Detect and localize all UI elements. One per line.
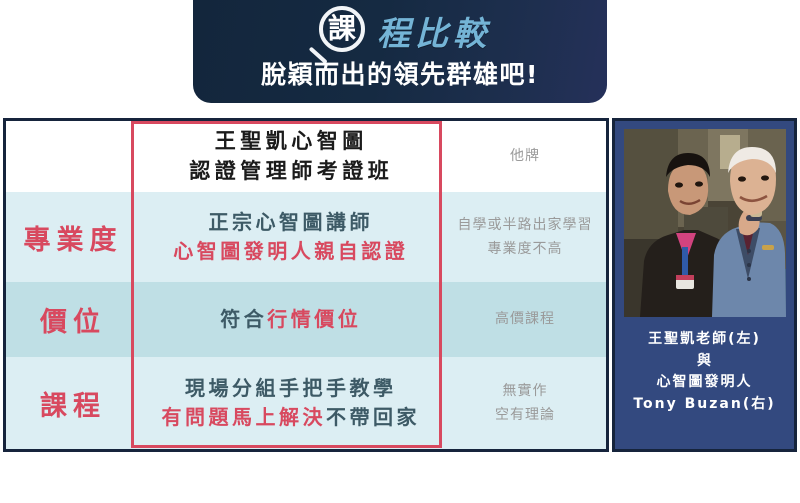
ours-text-segment: 行情價位: [267, 307, 361, 331]
table-row: 價位 符合行情價位 高價課程: [6, 282, 606, 357]
row-label-price: 價位: [6, 282, 134, 357]
ours-text-segment: 有問題馬上解決: [162, 405, 327, 429]
ours-text-segment: 正宗心智圖講師: [209, 210, 374, 234]
row-ours-expertise: 正宗心智圖講師心智圖發明人親自認證: [134, 192, 444, 282]
header-cell-ours: 王聖凱心智圖 認證管理師考證班: [134, 121, 444, 192]
caption-line-1: 王聖凱老師(左): [615, 329, 794, 351]
page-title: 程比較: [377, 17, 491, 50]
row-other-expertise: 自學或半路出家學習專業度不高: [444, 192, 606, 282]
row-other-course: 無實作空有理論: [444, 357, 606, 449]
magnifier-glyph-text: 課: [319, 6, 365, 52]
other-title: 他牌: [510, 144, 540, 169]
ours-text-line: 正宗心智圖講師: [205, 208, 373, 237]
header-cell-other: 他牌: [444, 121, 606, 192]
header-subtitle: 脫穎而出的領先群雄吧!: [193, 60, 607, 90]
ours-text-line: 現場分組手把手教學: [182, 374, 397, 403]
other-text-line: 高價課程: [495, 307, 555, 332]
ours-text-segment: 符合: [220, 307, 267, 331]
ours-text-segment: 現場分組手把手教學: [185, 376, 397, 400]
photo-caption: 王聖凱老師(左) 與 心智圖發明人 Tony Buzan(右): [615, 329, 794, 416]
caption-line-2: 與: [615, 351, 794, 373]
ours-title-line1: 王聖凱心智圖: [210, 127, 368, 157]
other-text-line: 自學或半路出家學習: [458, 213, 593, 238]
header-title-row: 課 程比較: [193, 2, 607, 64]
photo-image: [624, 129, 786, 317]
ours-text-line: 符合行情價位: [217, 305, 362, 334]
comparison-table: 王聖凱心智圖 認證管理師考證班 他牌 專業度 正宗心智圖講師心智圖發明人親自認證…: [3, 118, 609, 452]
other-text-line: 空有理論: [495, 403, 555, 428]
row-label-course: 課程: [6, 357, 134, 449]
ours-text-segment: 不帶回家: [326, 405, 420, 429]
other-text-line: 無實作: [503, 379, 548, 404]
photo-panel: 王聖凱老師(左) 與 心智圖發明人 Tony Buzan(右): [612, 118, 797, 452]
header-banner: 課 程比較 脫穎而出的領先群雄吧!: [193, 0, 607, 103]
other-text-line: 專業度不高: [488, 237, 563, 262]
header-cell-label: [6, 121, 134, 192]
caption-line-4: Tony Buzan(右): [615, 394, 794, 416]
ours-title-line2: 認證管理師考證班: [185, 157, 394, 187]
ours-text-line: 心智圖發明人親自認證: [170, 237, 409, 266]
row-label-expertise: 專業度: [6, 192, 134, 282]
ours-text-line: 有問題馬上解決不帶回家: [158, 403, 420, 432]
magnifier-search-icon: 課: [309, 2, 375, 64]
caption-line-3: 心智圖發明人: [615, 372, 794, 394]
row-ours-price: 符合行情價位: [134, 282, 444, 357]
row-other-price: 高價課程: [444, 282, 606, 357]
table-row: 專業度 正宗心智圖講師心智圖發明人親自認證 自學或半路出家學習專業度不高: [6, 192, 606, 282]
ours-text-segment: 心智圖發明人親自認證: [173, 239, 408, 263]
table-header-row: 王聖凱心智圖 認證管理師考證班 他牌: [6, 121, 606, 192]
row-ours-course: 現場分組手把手教學有問題馬上解決不帶回家: [134, 357, 444, 449]
table-row: 課程 現場分組手把手教學有問題馬上解決不帶回家 無實作空有理論: [6, 357, 606, 449]
